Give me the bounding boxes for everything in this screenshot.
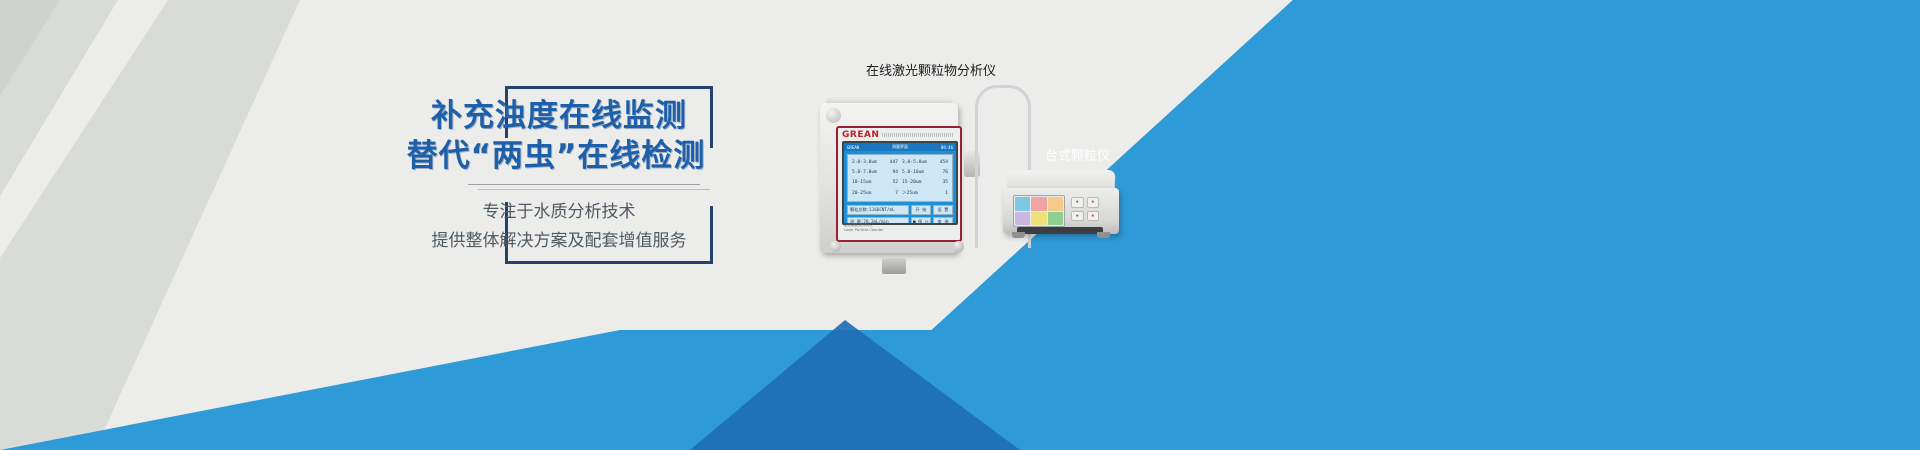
table-row: 15-20um 35 xyxy=(900,178,950,188)
lcd-status-row-1: 颗粒总数:1166CNT/mL 开 始 设 置 xyxy=(847,205,953,215)
callout-benchtop-counter: 台式颗粒仪 xyxy=(1045,145,1110,164)
size-range: 5.0-7.0um xyxy=(852,170,877,175)
bench-tile xyxy=(1031,212,1046,226)
table-row: 20-25um 7 xyxy=(850,188,900,199)
bench-key[interactable]: ● xyxy=(1087,197,1100,208)
size-range: 5.0-10um xyxy=(902,170,924,175)
subtitle-line-2: 提供整体解决方案及配套增值服务 xyxy=(406,227,712,256)
bracket-top-line xyxy=(505,86,713,89)
table-row: 2.0-3.0um 447 xyxy=(850,157,900,167)
table-row: 3.0-5.0um 454 xyxy=(900,157,950,167)
bench-key[interactable]: ● xyxy=(1071,197,1084,208)
particle-count: 52 xyxy=(892,180,898,185)
size-range: 10-15um xyxy=(852,180,871,185)
screw-bottom-left xyxy=(830,241,841,252)
size-range: 20-25um xyxy=(852,191,871,196)
bench-keypad[interactable]: ● ● ● ● xyxy=(1071,197,1099,221)
bench-key[interactable]: ● xyxy=(1071,211,1084,222)
lcd-title-bar: GREAN 测量界面 09:46 xyxy=(844,143,956,151)
bench-foot-left xyxy=(1012,232,1025,238)
table-row: 5.0-7.0um 94 xyxy=(850,167,900,177)
headline-line-2: 替代“两虫”在线检测 xyxy=(400,136,712,176)
subtitle-block: 专注于水质分析技术 提供整体解决方案及配套增值服务 xyxy=(406,198,712,256)
lcd-settings-button[interactable]: 设 置 xyxy=(933,205,953,215)
bench-tile xyxy=(1015,197,1030,211)
page-title: 补充浊度在线监测 替代“两虫”在线检测 xyxy=(406,96,712,176)
benchtop-counter-device: ● ● ● ● xyxy=(1003,170,1121,245)
promo-banner: 补充浊度在线监测 替代“两虫”在线检测 专注于水质分析技术 提供整体解决方案及配… xyxy=(0,0,1920,450)
bench-tile xyxy=(1048,212,1063,226)
lcd-status-area: 颗粒总数:1166CNT/mL 开 始 设 置 流 量:78.2mL/min ■… xyxy=(847,205,953,225)
particle-count: 94 xyxy=(892,170,898,175)
screw-bottom-right xyxy=(953,241,964,252)
particle-count: 35 xyxy=(942,180,948,185)
lcd-header-center: 测量界面 xyxy=(892,144,908,150)
headline-line-1: 补充浊度在线监测 xyxy=(406,96,712,136)
device-caption-en: Laser Particle Counter xyxy=(844,228,884,233)
size-range: 15-20um xyxy=(902,180,921,185)
lcd-header-right: 09:46 xyxy=(941,145,953,150)
particle-count: 447 xyxy=(890,160,898,165)
bench-key[interactable]: ● xyxy=(1087,211,1100,222)
bench-sample-slot xyxy=(1017,227,1103,234)
size-range: 3.0-5.0um xyxy=(902,160,927,165)
device-vent-grille xyxy=(882,133,954,137)
size-range: ＞25um xyxy=(902,190,918,196)
bracket-bottom-line xyxy=(505,261,713,264)
online-analyzer-device: GREAN GREAN 测量界面 09:46 2.0-3.0um 447 3.0… xyxy=(812,95,967,270)
device-brand-logo: GREAN xyxy=(842,130,879,140)
bench-tile xyxy=(1015,212,1030,226)
lcd-query-button[interactable]: 查 询 xyxy=(933,217,953,225)
callout-online-analyzer: 在线激光颗粒物分析仪 xyxy=(866,60,996,79)
divider-line-1 xyxy=(468,184,700,185)
particle-count: 76 xyxy=(942,170,948,175)
size-range: 2.0-3.0um xyxy=(852,160,877,165)
cable-gland-port xyxy=(882,258,906,274)
table-row: 5.0-10um 76 xyxy=(900,167,950,177)
bench-foot-right xyxy=(1097,232,1110,238)
bench-tile xyxy=(1031,197,1046,211)
bench-lcd-screen[interactable] xyxy=(1013,195,1065,227)
particle-count: 454 xyxy=(940,160,948,165)
divider-line-2 xyxy=(478,189,710,190)
subtitle-line-1: 专注于水质分析技术 xyxy=(406,198,712,227)
device-knob xyxy=(826,108,841,123)
device-caption: 激光颗粒物分析仪 Laser Particle Counter xyxy=(844,223,884,233)
device-lcd-screen[interactable]: GREAN 测量界面 09:46 2.0-3.0um 447 3.0-5.0um… xyxy=(842,141,958,225)
table-row: ＞25um 1 xyxy=(900,188,950,199)
lcd-header-left: GREAN xyxy=(847,145,859,150)
lcd-stop-button[interactable]: ■ 停 止 xyxy=(911,217,931,225)
table-row: 10-15um 52 xyxy=(850,178,900,188)
particle-count: 1 xyxy=(945,191,948,196)
lcd-start-button[interactable]: 开 始 xyxy=(911,205,931,215)
headline-block: 补充浊度在线监测 替代“两虫”在线检测 专注于水质分析技术 提供整体解决方案及配… xyxy=(412,86,712,264)
particle-count: 7 xyxy=(895,191,898,196)
device-enclosure: GREAN GREAN 测量界面 09:46 2.0-3.0um 447 3.0… xyxy=(820,103,958,253)
total-count-readout: 颗粒总数:1166CNT/mL xyxy=(847,205,909,215)
bench-tile xyxy=(1048,197,1063,211)
lcd-data-table: 2.0-3.0um 447 3.0-5.0um 454 5.0-7.0um 94… xyxy=(847,154,953,202)
